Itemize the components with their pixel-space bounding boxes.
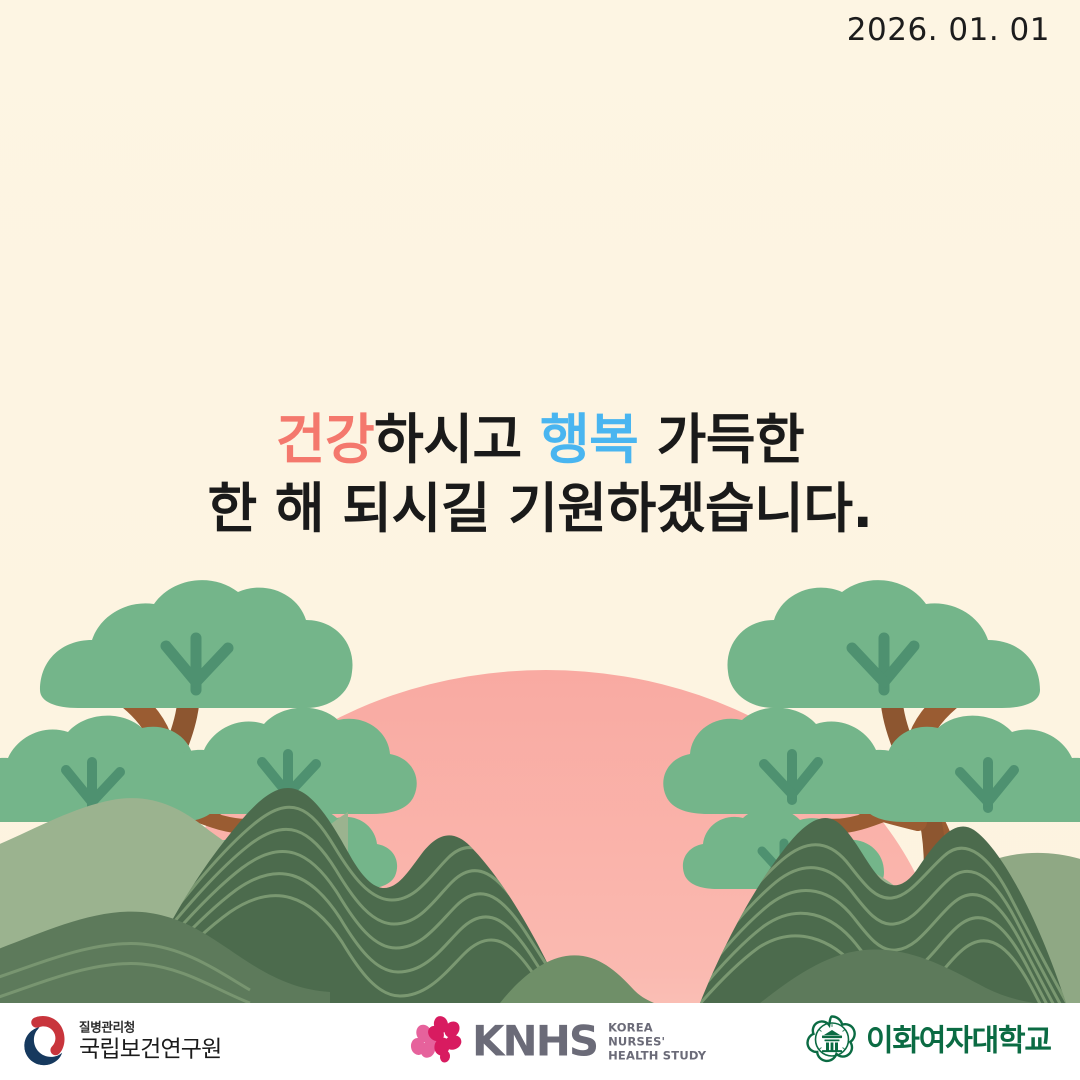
new-year-greeting-card: 2026. 01. 01 bbox=[0, 0, 1080, 1080]
greeting-line-1: 건강하시고 행복 가득한 bbox=[0, 405, 1080, 474]
kdca-institute-name: 국립보건연구원 bbox=[79, 1038, 222, 1061]
ewha-university-name: 이화여자대학교 bbox=[866, 1027, 1051, 1057]
knhs-sub-line-3: HEALTH STUDY bbox=[608, 1049, 706, 1063]
greeting-highlight-health: 건강 bbox=[276, 408, 374, 471]
kdca-agency-name: 질병관리청 bbox=[79, 1022, 222, 1035]
ewha-emblem-icon bbox=[806, 1013, 858, 1070]
greeting-line-2: 한 해 되시길 기원하겠습니다. bbox=[0, 474, 1080, 543]
logo-kdca: 질병관리청 국립보건연구원 bbox=[14, 1013, 222, 1070]
logo-knhs: KNHS KOREA NURSES' HEALTH STUDY bbox=[408, 1013, 706, 1070]
date-label: 2026. 01. 01 bbox=[847, 12, 1050, 48]
knhs-blossom-icon bbox=[408, 1013, 464, 1070]
knhs-subtitle: KOREA NURSES' HEALTH STUDY bbox=[608, 1020, 706, 1062]
greeting-line-1-mid: 하시고 bbox=[374, 408, 540, 471]
greeting-highlight-happiness: 행복 bbox=[540, 408, 638, 471]
knhs-sub-line-2: NURSES' bbox=[608, 1034, 706, 1048]
logo-ewha: 이화여자대학교 bbox=[806, 1013, 1051, 1070]
footer-logo-bar: 질병관리청 국립보건연구원 bbox=[0, 1003, 1080, 1080]
greeting-message: 건강하시고 행복 가득한 한 해 되시길 기원하겠습니다. bbox=[0, 405, 1080, 543]
kdca-text-block: 질병관리청 국립보건연구원 bbox=[79, 1022, 222, 1062]
knhs-wordmark: KNHS bbox=[472, 1021, 597, 1063]
knhs-sub-line-1: KOREA bbox=[608, 1020, 706, 1034]
taegeuk-icon bbox=[14, 1013, 70, 1070]
greeting-line-1-tail: 가득한 bbox=[638, 408, 804, 471]
